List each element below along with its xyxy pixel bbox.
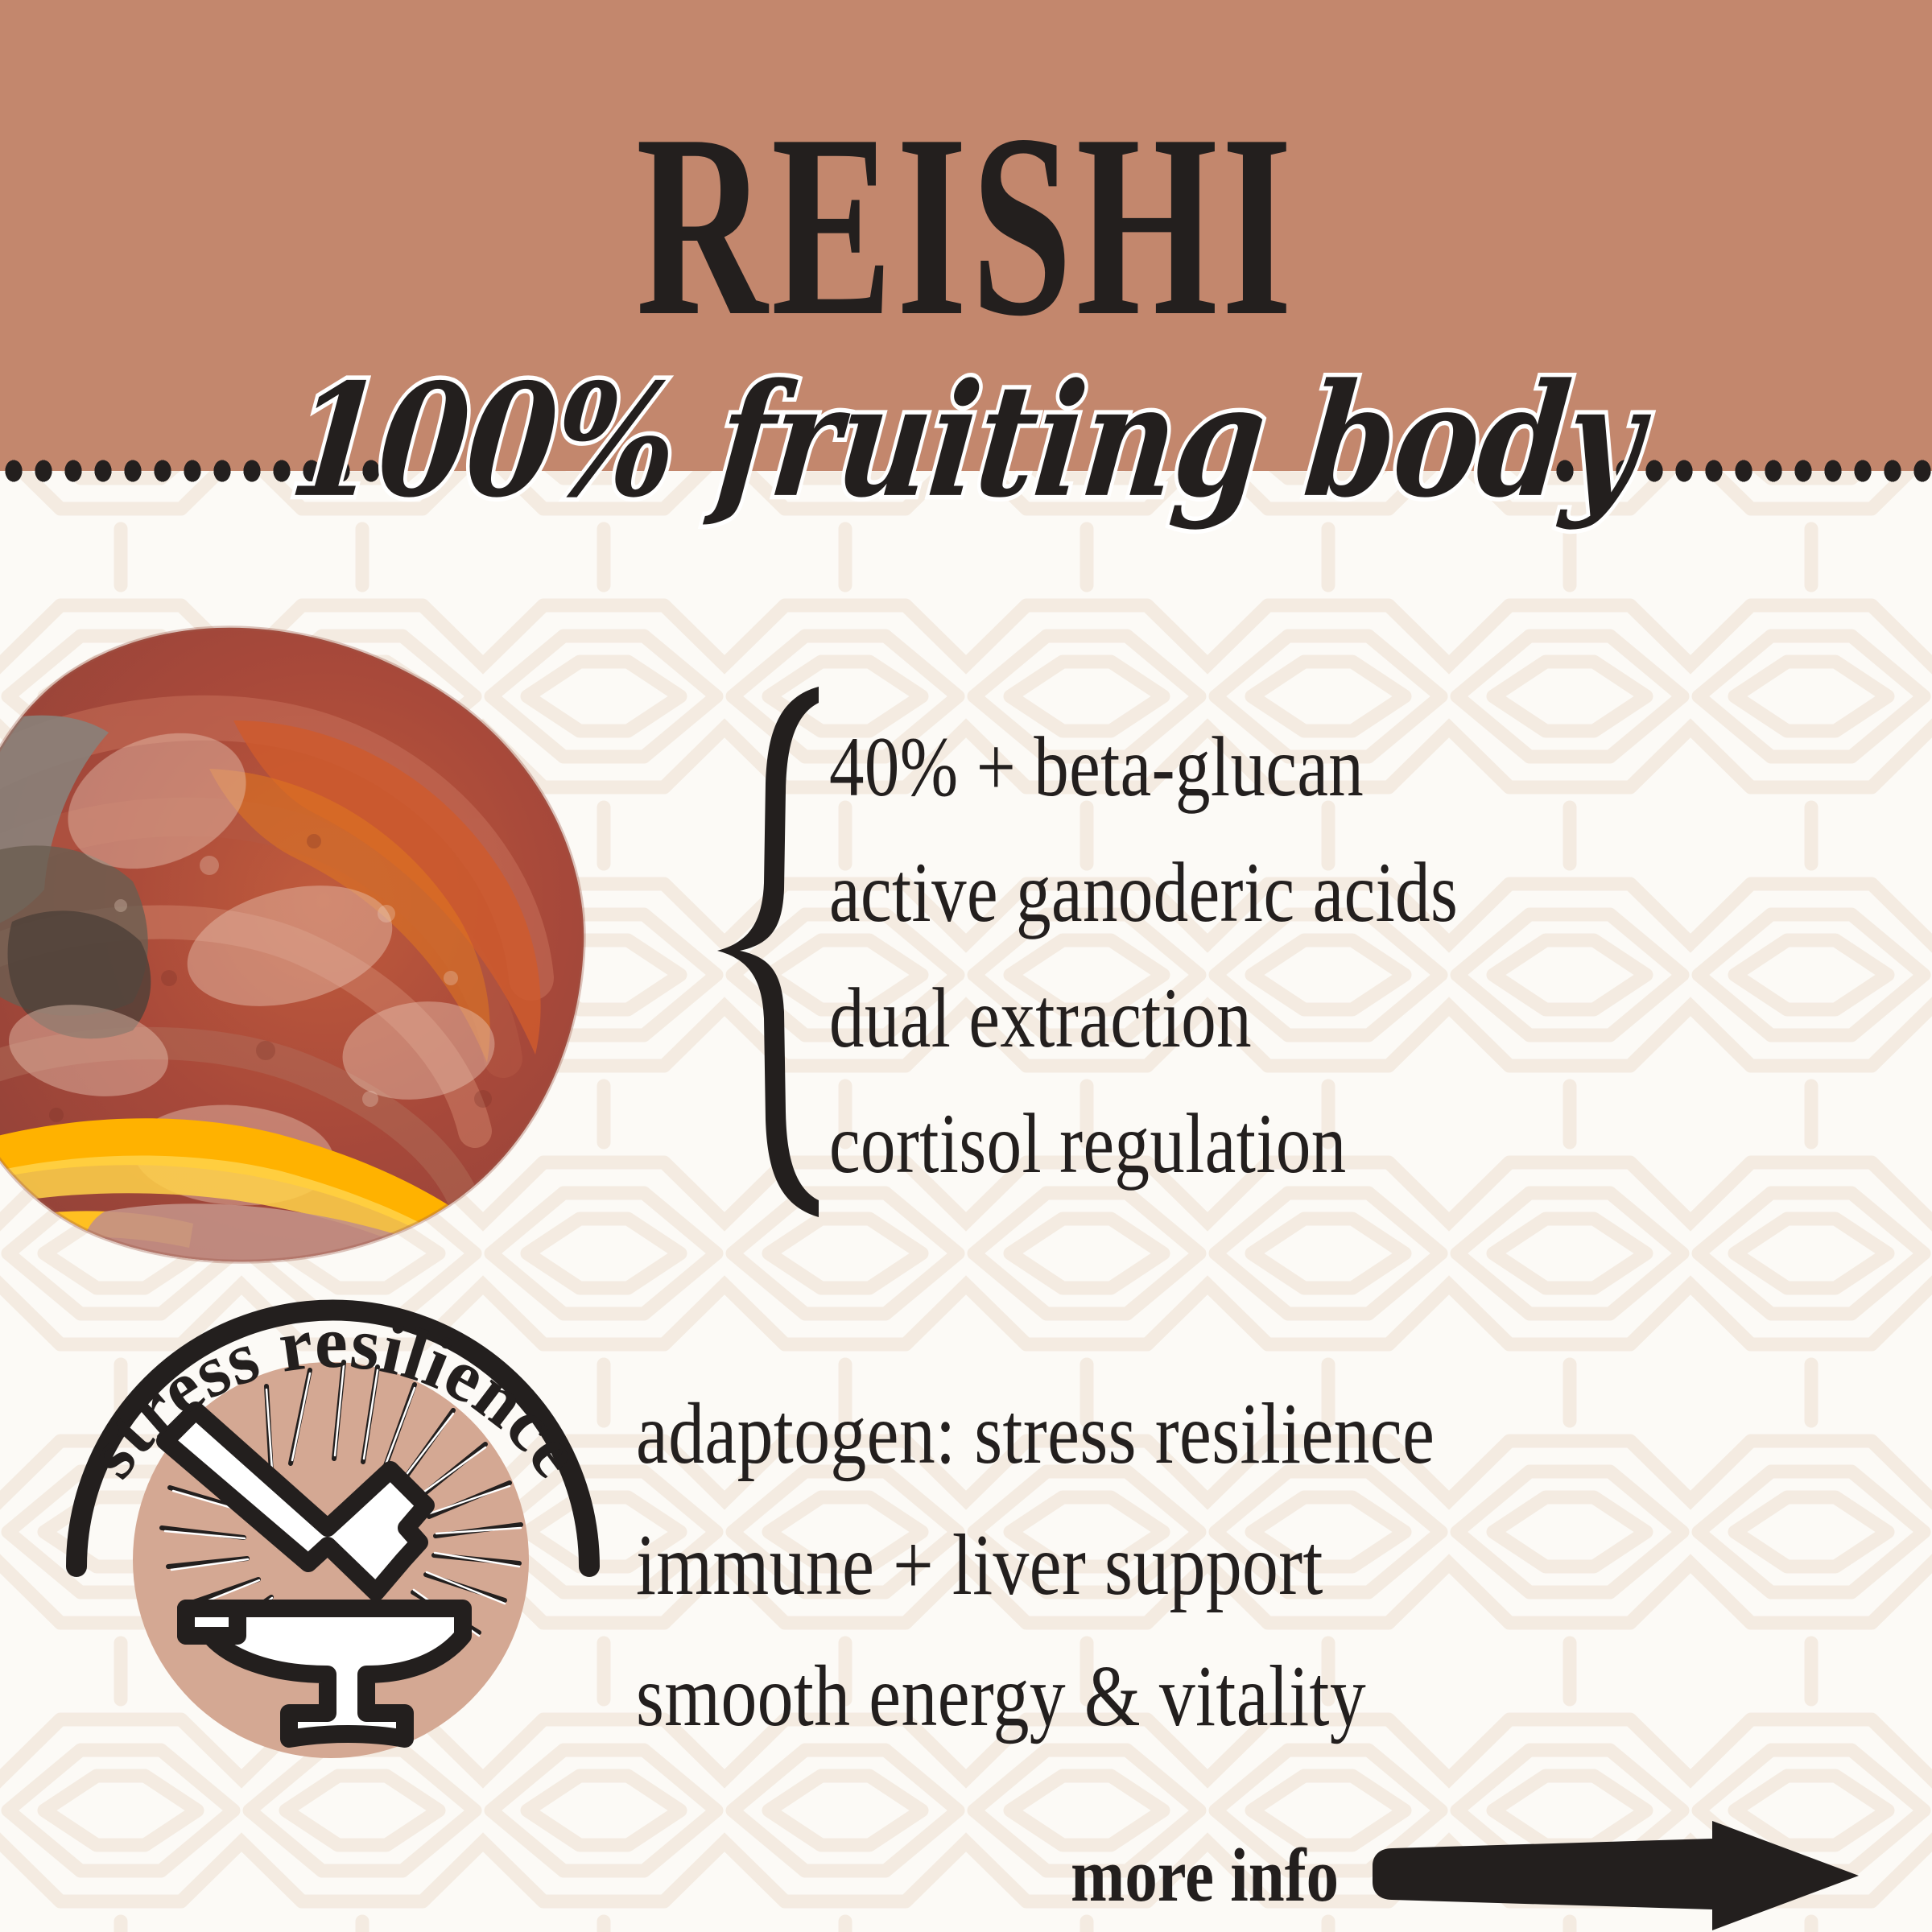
benefit-item: adaptogen: stress resilience	[636, 1368, 1705, 1500]
dotted-divider-left	[0, 456, 386, 485]
features-list: 40% + beta-glucan active ganoderic acids…	[829, 704, 1892, 1207]
benefit-item: immune + liver support	[636, 1500, 1705, 1631]
dotted-divider-right	[1521, 456, 1932, 485]
more-info-cta[interactable]: more info	[1071, 1815, 1932, 1932]
benefit-item: smooth energy & vitality	[636, 1631, 1705, 1762]
benefits-list: adaptogen: stress resilience immune + li…	[636, 1368, 1924, 1762]
reishi-mushroom-illustration	[0, 600, 620, 1316]
curly-brace-icon	[680, 680, 849, 1224]
feature-item: cortisol regulation	[829, 1081, 1700, 1207]
more-info-label: more info	[1071, 1838, 1339, 1913]
arrow-right-icon	[1366, 1819, 1865, 1932]
page-title: REISHI	[213, 95, 1719, 357]
feature-item: active ganoderic acids	[829, 830, 1700, 956]
stress-resilience-badge: stress resilience	[44, 1272, 624, 1860]
product-info-card: REISHI 100% fruiting body	[0, 0, 1932, 1932]
feature-item: dual extraction	[829, 956, 1700, 1081]
feature-item: 40% + beta-glucan	[829, 704, 1700, 830]
